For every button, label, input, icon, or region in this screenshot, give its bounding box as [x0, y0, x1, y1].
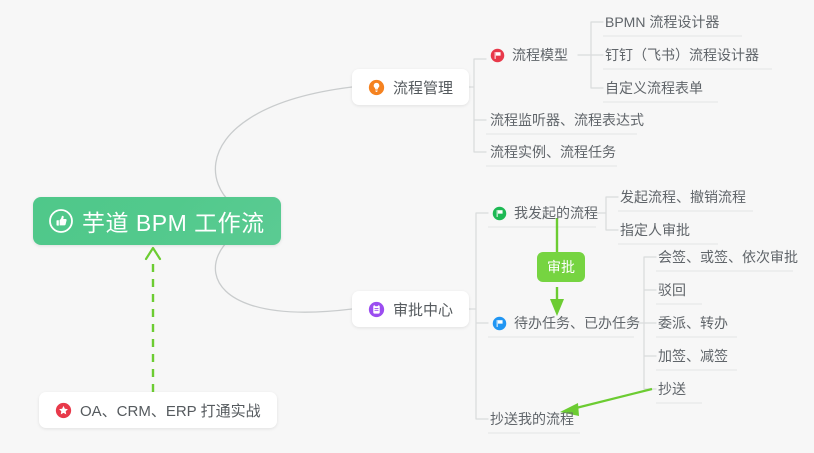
node-assigned-approver[interactable]: 指定人审批: [618, 215, 696, 245]
star-icon: [55, 402, 72, 419]
node-label: 流程实例、流程任务: [490, 142, 616, 162]
integration-arrow: [146, 248, 160, 392]
node-label: 委派、转办: [658, 313, 728, 333]
node-todo-done-tasks[interactable]: 待办任务、已办任务: [490, 308, 646, 338]
root-label: 芋道 BPM 工作流: [82, 204, 265, 238]
node-process-model[interactable]: 流程模型: [488, 40, 574, 70]
node-bpmn-designer[interactable]: BPMN 流程设计器: [603, 7, 725, 37]
tag-label: 审批: [547, 257, 575, 277]
node-label: 驳回: [658, 280, 686, 300]
node-label: 流程监听器、流程表达式: [490, 110, 644, 130]
approval-tag[interactable]: 审批: [537, 252, 585, 282]
node-label: 会签、或签、依次审批: [658, 247, 798, 267]
node-my-initiated-process[interactable]: 我发起的流程: [490, 198, 604, 228]
flag-icon: [492, 206, 507, 221]
node-label: 待办任务、已办任务: [514, 313, 640, 333]
branch-label: 流程管理: [393, 77, 453, 98]
branch-process-management[interactable]: 流程管理: [352, 69, 469, 105]
node-label: 指定人审批: [620, 220, 690, 240]
node-label: 抄送: [658, 379, 686, 399]
node-label: 抄送我的流程: [490, 409, 574, 429]
node-carbon-copy[interactable]: 抄送: [656, 374, 692, 404]
flag-icon: [490, 48, 505, 63]
clipboard-icon: [368, 301, 385, 318]
branch-approval-center[interactable]: 审批中心: [352, 291, 469, 327]
footnote-label: OA、CRM、ERP 打通实战: [80, 400, 261, 421]
node-label: BPMN 流程设计器: [605, 12, 719, 32]
thumbs-up-icon: [49, 209, 73, 233]
footnote-node[interactable]: OA、CRM、ERP 打通实战: [39, 392, 277, 428]
node-custom-process-form[interactable]: 自定义流程表单: [603, 73, 709, 103]
node-label: 流程模型: [512, 45, 568, 65]
node-delegate-transfer[interactable]: 委派、转办: [656, 308, 734, 338]
node-label: 发起流程、撤销流程: [620, 187, 746, 207]
branch-label: 审批中心: [393, 299, 453, 320]
mindmap-canvas: 芋道 BPM 工作流 流程管理 流程模型 BPMN 流程设计器 钉钉（飞书）流程: [0, 0, 814, 453]
node-add-remove-sign[interactable]: 加签、减签: [656, 341, 734, 371]
node-label: 自定义流程表单: [605, 78, 703, 98]
node-label: 加签、减签: [658, 346, 728, 366]
node-start-cancel-process[interactable]: 发起流程、撤销流程: [618, 182, 752, 212]
node-reject[interactable]: 驳回: [656, 275, 692, 305]
node-label: 我发起的流程: [514, 203, 598, 223]
flag-icon: [492, 316, 507, 331]
root-node[interactable]: 芋道 BPM 工作流: [33, 197, 281, 245]
node-cc-to-me-process[interactable]: 抄送我的流程: [488, 404, 580, 434]
edge-process-model-trunk: [578, 22, 603, 88]
node-process-listener-expression[interactable]: 流程监听器、流程表达式: [488, 105, 650, 135]
node-dingtalk-feishu-designer[interactable]: 钉钉（飞书）流程设计器: [603, 40, 765, 70]
node-countersign-orsign-sequential[interactable]: 会签、或签、依次审批: [656, 242, 804, 272]
node-label: 钉钉（飞书）流程设计器: [605, 45, 759, 65]
lightbulb-icon: [368, 79, 385, 96]
node-process-instance-task[interactable]: 流程实例、流程任务: [488, 137, 622, 167]
